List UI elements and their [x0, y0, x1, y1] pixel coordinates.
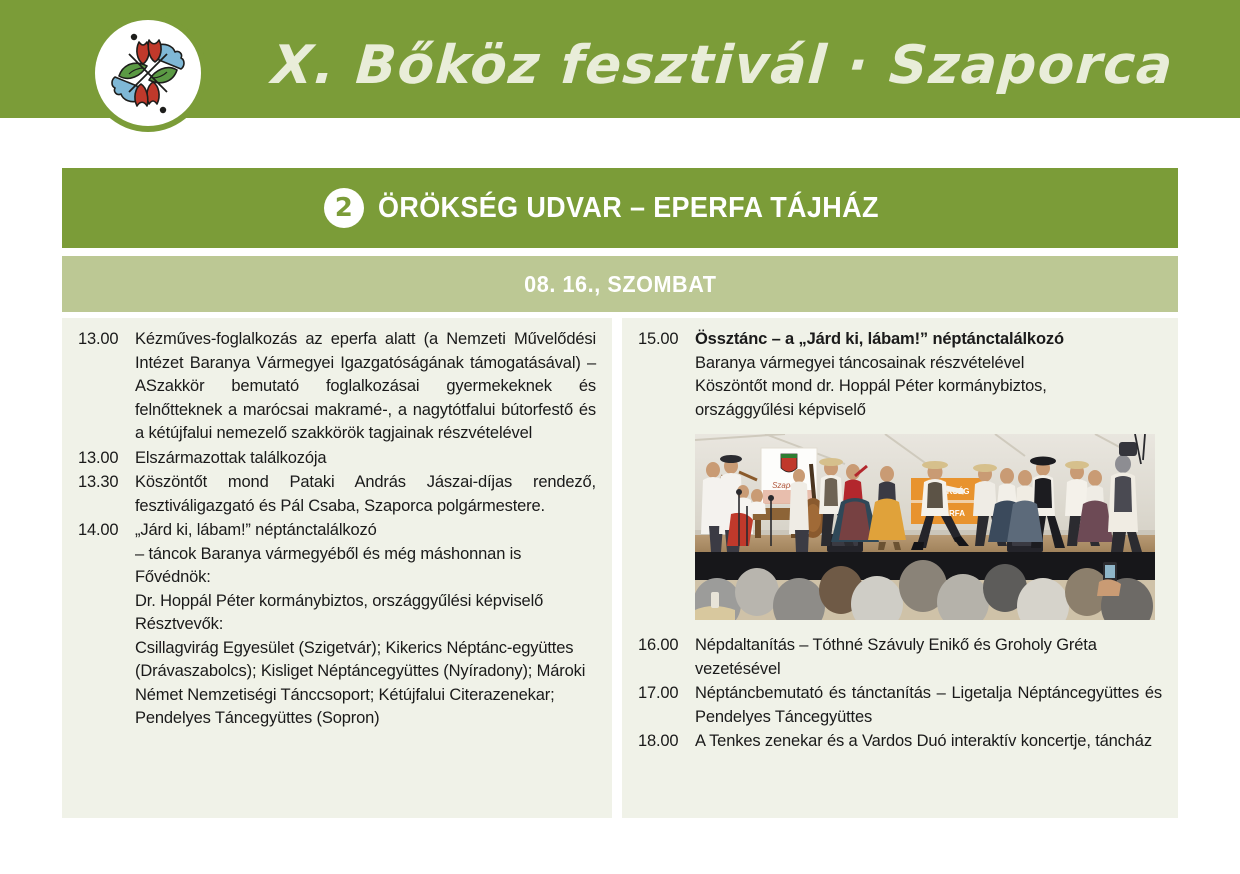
entry-line: Fővédnök: — [135, 566, 596, 590]
entry-line: Dr. Hoppál Péter kormánybiztos, országgy… — [135, 590, 596, 614]
entry-time: 17.00 — [622, 682, 695, 706]
program-entry: 13.00 Kézműves-foglalkozás az eperfa ala… — [62, 328, 596, 446]
venue-header: 2 ÖRÖKSÉG UDVAR – EPERFA TÁJHÁZ — [62, 168, 1178, 248]
entry-description: Kézműves-foglalkozás az eperfa alatt (a … — [135, 328, 596, 446]
program-entry: 15.00 Össztánc – a „Járd ki, lábam!” nép… — [622, 328, 1162, 422]
entry-line: „Járd ki, lábam!” néptánctalálkozó — [135, 519, 596, 543]
festival-title: X. Bőköz fesztivál · Szaporca — [269, 20, 1177, 110]
entry-time: 13.30 — [62, 471, 135, 495]
entry-description: A Tenkes zenekar és a Vardos Duó interak… — [695, 730, 1162, 754]
program-entry: 17.00 Néptáncbemutató és tánctanítás – L… — [622, 682, 1162, 729]
entry-description: Össztánc – a „Járd ki, lábam!” néptáncta… — [695, 328, 1162, 422]
entry-line: országgyűlési képviselő — [695, 399, 1162, 423]
entry-time: 16.00 — [622, 634, 695, 658]
entry-line: Köszöntőt mond dr. Hoppál Péter kormányb… — [695, 375, 1162, 399]
program-entry: 13.00 Elszármazottak találkozója — [62, 447, 596, 471]
entry-time: 13.00 — [62, 328, 135, 352]
program-entry: 18.00 A Tenkes zenekar és a Vardos Duó i… — [622, 730, 1162, 754]
logo-disc — [95, 20, 201, 126]
entry-description: Néptáncbemutató és tánctanítás – Ligetal… — [695, 682, 1162, 729]
program-column-right: 15.00 Össztánc – a „Járd ki, lábam!” nép… — [622, 318, 1178, 818]
venue-title: ÖRÖKSÉG UDVAR – EPERFA TÁJHÁZ — [378, 192, 879, 225]
entry-time: 14.00 — [62, 519, 135, 543]
entry-line: Résztvevők: — [135, 613, 596, 637]
folk-dance-photo-icon: Szaporca ÖRÖKSÉG EPERFA — [695, 434, 1155, 620]
date-band: 08. 16., SZOMBAT — [62, 256, 1178, 312]
program-entry: 13.30 Köszöntőt mond Pataki András Jásza… — [62, 471, 596, 518]
entry-time: 13.00 — [62, 447, 135, 471]
program-entry: 14.00 „Járd ki, lábam!” néptánctalálkozó… — [62, 519, 596, 731]
entry-description: „Járd ki, lábam!” néptánctalálkozó – tán… — [135, 519, 596, 731]
entry-line: Csillagvirág Egyesület (Szigetvár); Kike… — [135, 637, 596, 731]
entry-description: Népdaltanítás – Tóthné Szávuly Enikő és … — [695, 634, 1162, 681]
entry-headline: Össztánc – a „Járd ki, lábam!” néptáncta… — [695, 328, 1162, 352]
venue-number-badge: 2 — [324, 188, 364, 228]
program-column-left: 13.00 Kézműves-foglalkozás az eperfa ala… — [62, 318, 612, 818]
entry-line: – táncok Baranya vármegyéből és még másh… — [135, 543, 596, 567]
performance-photo: Szaporca ÖRÖKSÉG EPERFA — [695, 434, 1155, 620]
program-entry: 16.00 Népdaltanítás – Tóthné Szávuly Eni… — [622, 634, 1162, 681]
entry-line: Baranya vármegyei táncosainak részvételé… — [695, 352, 1162, 376]
folk-flower-logo-icon — [95, 20, 201, 126]
entry-time: 15.00 — [622, 328, 695, 352]
entry-description: Köszöntőt mond Pataki András Jászai-díja… — [135, 471, 596, 518]
festival-logo — [89, 14, 207, 132]
entry-time: 18.00 — [622, 730, 695, 754]
date-label: 08. 16., SZOMBAT — [524, 271, 716, 298]
entry-description: Elszármazottak találkozója — [135, 447, 596, 471]
